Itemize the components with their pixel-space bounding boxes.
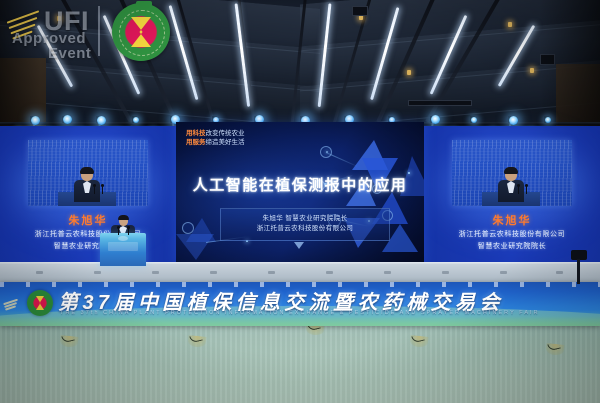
left-panel-role: 智慧农业研究院院长 [0, 241, 176, 251]
ceiling-spot-icon [530, 68, 534, 73]
stage-light-icon [31, 116, 40, 125]
stage-light-icon [545, 117, 551, 123]
subtitle-company: 浙江托普云农科技股份有限公司 [225, 224, 385, 234]
tagline-bottom-highlight: 用服务 [186, 139, 206, 146]
event-banner: 第37届中国植保信息交流暨农药械交易会 THE 37th CHINA PLANT… [0, 282, 600, 326]
tagline-top-highlight: 用科技 [186, 130, 206, 137]
stage-light-icon [431, 115, 440, 124]
lectern [100, 233, 146, 266]
subtitle-speaker: 朱旭华 智慧农业研究院院长 [225, 214, 385, 224]
speaker-on-screen [496, 168, 526, 202]
right-camera-feed [452, 140, 572, 206]
stage-light-icon [97, 116, 106, 125]
left-panel-speaker-name: 朱旭华 [0, 212, 176, 228]
banner-fair-seal-icon [27, 290, 53, 316]
left-panel-company: 浙江托普云农科技股份有限公司 [0, 229, 176, 239]
stage-light-icon [509, 116, 518, 125]
left-camera-feed [28, 140, 148, 206]
down-arrow-icon [294, 242, 304, 249]
tagline-top-rest: 改变传统农业 [206, 130, 245, 137]
left-led-panel: 朱旭华 浙江托普云农科技股份有限公司 智慧农业研究院院长 [0, 126, 176, 282]
polygon-graphic [176, 234, 214, 260]
ceiling-spot-icon [407, 70, 411, 75]
speaker-on-screen [72, 168, 102, 202]
ceiling-spot-icon [508, 22, 512, 27]
tagline-bottom-rest: 缔造美好生活 [206, 139, 245, 146]
node-ring-icon [182, 222, 194, 234]
right-panel-speaker-name: 朱旭华 [424, 212, 600, 228]
main-presentation-screen: 用科技改变传统农业 用服务缔造美好生活 人工智能在植保测报中的应用 朱旭华 智慧… [176, 122, 424, 264]
camera-rig [571, 250, 587, 284]
banner-ufi-icon [2, 292, 26, 314]
node-ring-icon [320, 146, 332, 158]
banner-english-title: THE 37th CHINA PLANT PROTECTION INFORMAT… [60, 310, 594, 316]
stage-light-icon [471, 117, 477, 123]
lectern-logo [108, 242, 138, 251]
ceiling-spot-icon [57, 16, 61, 21]
conference-stage-photo: 朱旭华 浙江托普云农科技股份有限公司 智慧农业研究院院长 朱旭华 浙江托普云农科… [0, 0, 600, 403]
right-panel-company: 浙江托普云农科技股份有限公司 [424, 229, 600, 239]
presentation-title: 人工智能在植保测报中的应用 [176, 174, 424, 195]
stage-light-icon [63, 115, 72, 124]
presentation-subtitle-box: 朱旭华 智慧农业研究院院长 浙江托普云农科技股份有限公司 [220, 208, 390, 241]
stage-light-icon [133, 117, 139, 123]
screen-tagline: 用科技改变传统农业 用服务缔造美好生活 [186, 129, 245, 148]
